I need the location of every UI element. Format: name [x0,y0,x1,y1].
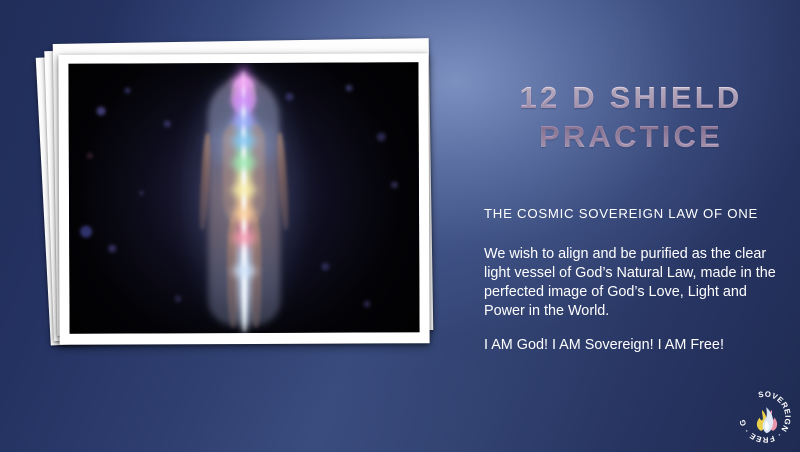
affirmation-text: I AM God! I AM Sovereign! I AM Free! [484,337,724,353]
star-glow [86,153,92,159]
chakra-root [229,230,259,246]
star-glow [377,133,386,142]
star-glow [321,262,329,270]
law-body-text: We wish to align and be purified as the … [484,245,786,322]
photo-frame [58,53,429,345]
chakra-high-heart [229,133,259,149]
chakra-crown [228,74,258,90]
chakra-earth-star [229,263,259,279]
chakra-throat [229,114,259,130]
star-glow [174,295,181,302]
chakra-sacral [229,206,259,222]
slide-canvas: 12 D SHIELD PRACTICE THE COSMIC SOVEREIG… [0,0,800,452]
chakra-heart [229,155,259,171]
star-glow [97,107,106,116]
star-glow [108,244,116,252]
content-panel: 12 D SHIELD PRACTICE THE COSMIC SOVEREIG… [470,0,800,452]
star-glow [363,300,370,307]
star-glow [345,84,352,91]
flame-icon [757,407,777,433]
chakra-solar-plexus [229,182,259,198]
law-heading: THE COSMIC SOVEREIGN LAW OF ONE [484,206,758,221]
star-glow [391,181,398,188]
sovereign-free-god-flame-logo[interactable]: SOVEREIGN · FREE · GOD · [736,388,794,446]
photo-image [68,62,419,334]
star-glow [163,120,170,127]
photo-stack [40,30,430,350]
chakra-third-eye [229,93,259,109]
page-title: 12 D SHIELD PRACTICE [470,78,792,156]
human-figure [183,63,304,334]
star-glow [80,226,92,238]
star-glow [125,88,131,94]
star-glow [139,190,144,195]
